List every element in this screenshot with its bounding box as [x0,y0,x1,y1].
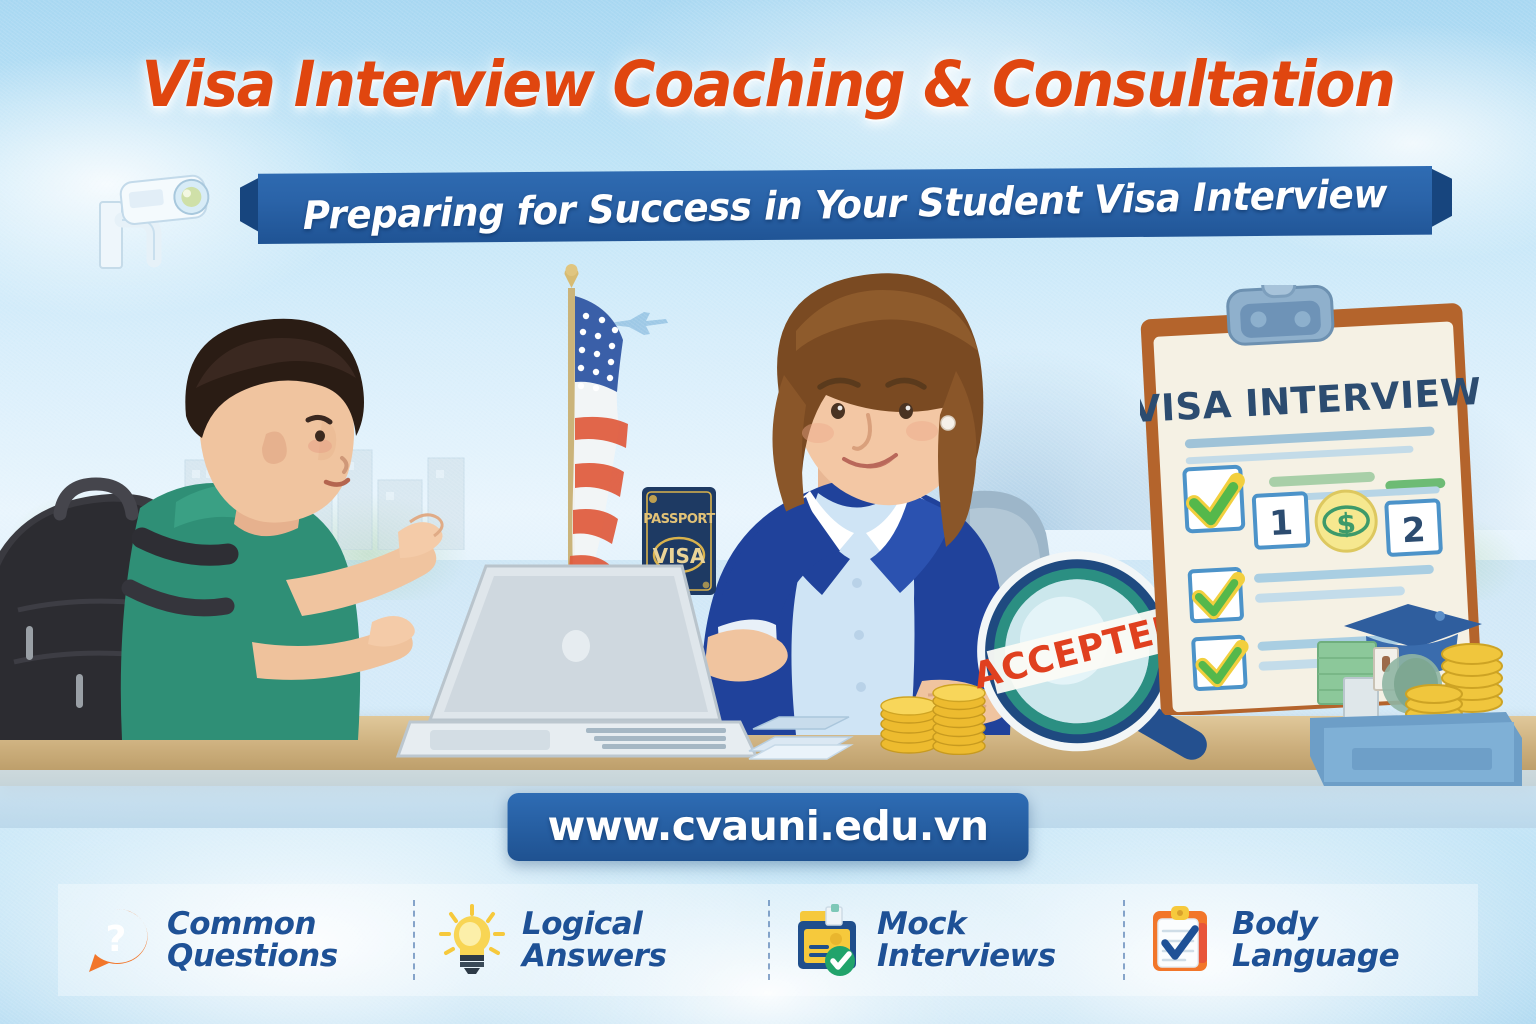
feature-label-line1: Logical [522,906,642,942]
page-title: Visa Interview Coaching & Consultation [54,48,1482,121]
graduation-cap-and-money [1300,590,1530,790]
poster-canvas: PASSPORT VISA [0,0,1536,1024]
clipboard-check-icon [1145,903,1219,977]
subtitle-text: Preparing for Success in Your Student Vi… [287,155,1404,256]
feature-label-line2: Answers [522,940,666,972]
feature-label-line1: Common [167,906,316,942]
illustration-scene: PASSPORT VISA [0,0,1536,1024]
question-speech-bubble-icon: ? [80,903,154,977]
feature-item-body-language[interactable]: Body Language [1123,884,1478,996]
svg-text:?: ? [106,919,127,960]
lightbulb-icon [435,903,509,977]
feature-label-line2: Language [1232,940,1399,972]
svg-text:PASSPORT: PASSPORT [643,512,715,527]
feature-label: Logical Answers [522,908,666,972]
website-url-badge[interactable]: www.cvauni.edu.vn [508,793,1029,861]
feature-label: Mock Interviews [877,908,1056,972]
svg-text:1: 1 [1268,503,1294,544]
feature-label-line1: Mock [877,906,966,942]
feature-item-mock-interviews[interactable]: Mock Interviews [768,884,1123,996]
svg-text:$: $ [1336,507,1357,541]
feature-item-common-questions[interactable]: ? Common Questions [58,884,413,996]
paper-stack [745,715,855,770]
feature-strip: ? Common Questions Logical Ans [58,884,1478,996]
feature-label: Common Questions [167,908,338,972]
feature-label-line2: Interviews [877,940,1056,972]
website-url-text: www.cvauni.edu.vn [548,802,989,850]
feature-label-line1: Body [1232,906,1317,942]
feature-label: Body Language [1232,908,1399,972]
subtitle-ribbon: Preparing for Success in Your Student Vi… [0,156,1536,256]
feature-item-logical-answers[interactable]: Logical Answers [413,884,768,996]
laptop-computer [390,560,760,775]
feature-label-line2: Questions [167,940,338,972]
svg-text:2: 2 [1401,510,1427,551]
folder-check-icon [790,903,864,977]
